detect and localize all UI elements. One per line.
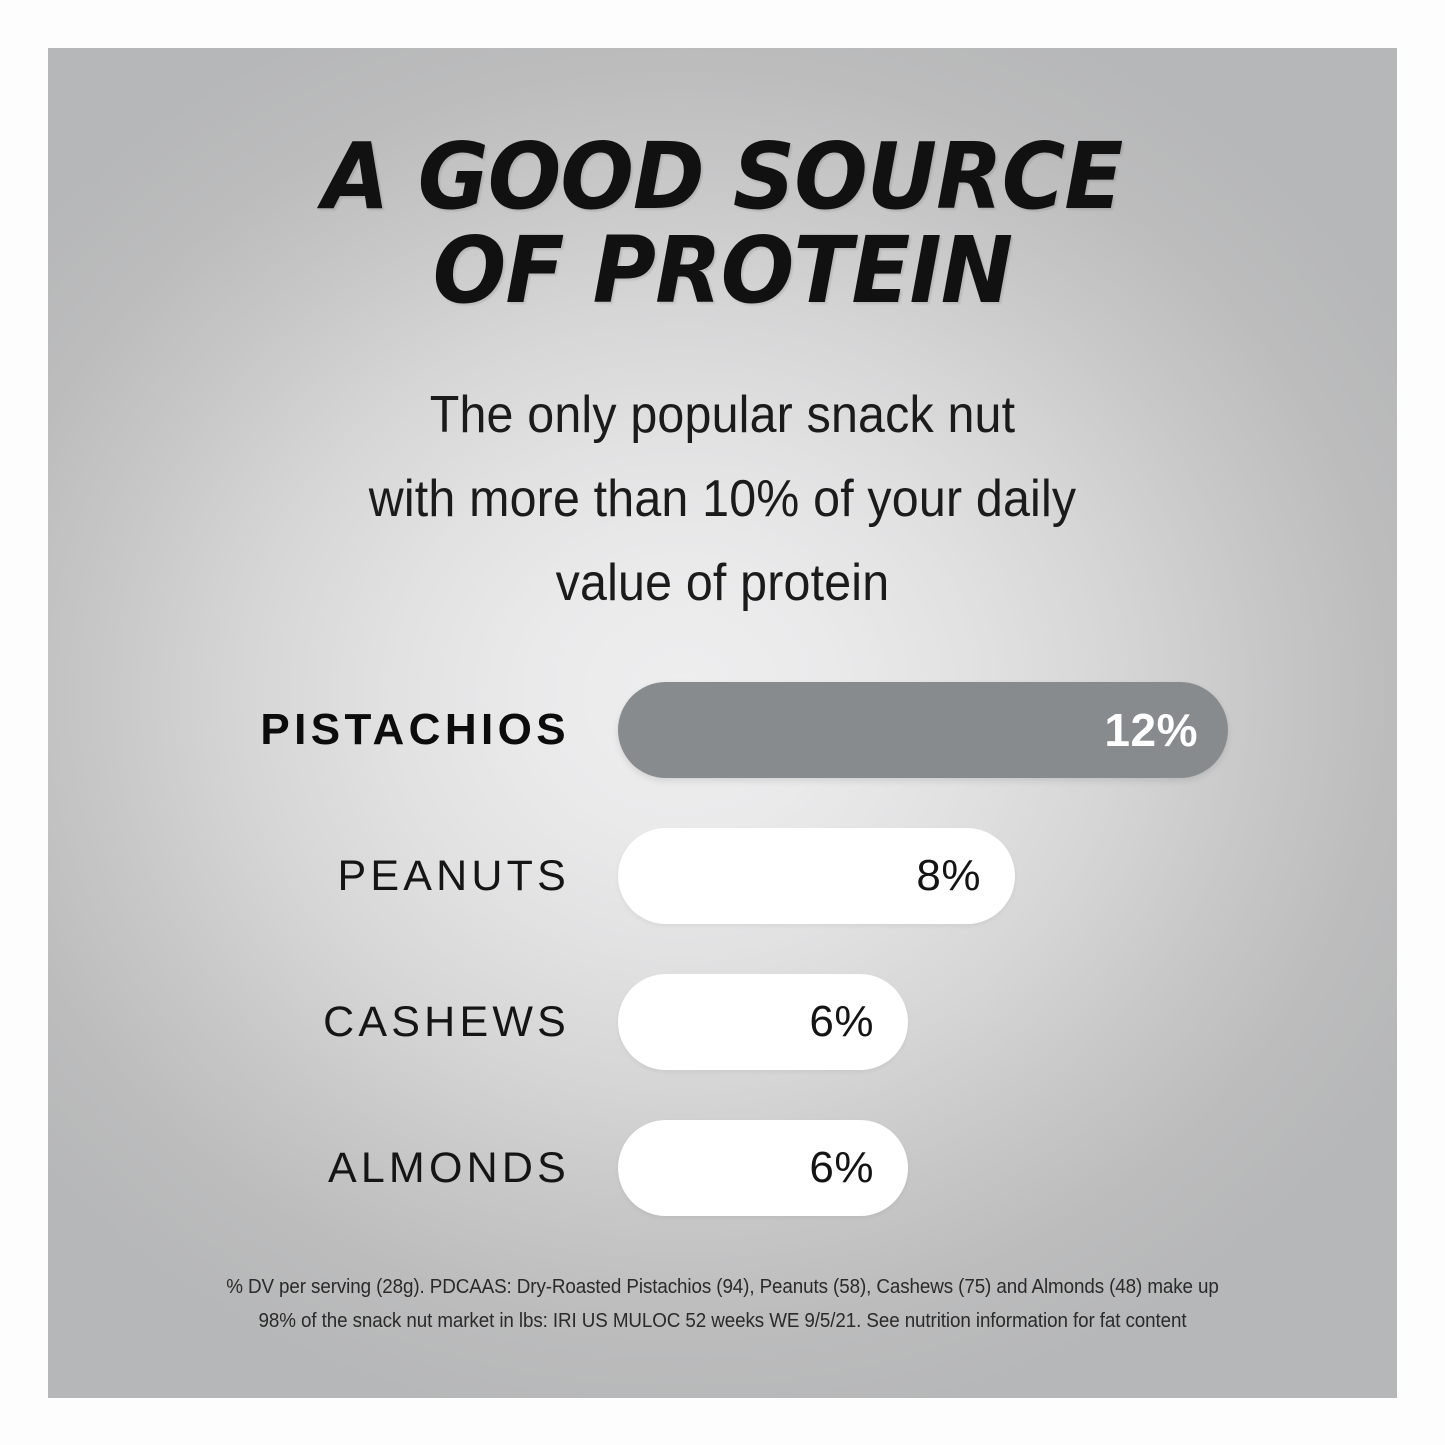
subtitle-line-1: The only popular snack nut xyxy=(95,373,1350,457)
bar-value-label: 8% xyxy=(916,851,1015,901)
bar-track: 6% xyxy=(618,1120,908,1216)
bar-label: PEANUTS xyxy=(48,828,570,924)
footnote-line-1: % DV per serving (28g). PDCAAS: Dry-Roas… xyxy=(88,1270,1356,1304)
bar-track: 8% xyxy=(618,828,1015,924)
bar-row-peanuts: PEANUTS8% xyxy=(48,828,1397,924)
infographic-panel: A GOOD SOURCE OF PROTEIN The only popula… xyxy=(48,48,1397,1398)
subtitle: The only popular snack nut with more tha… xyxy=(95,373,1350,625)
bar-row-pistachios: PISTACHIOS12% xyxy=(48,682,1397,778)
bar-value-label: 12% xyxy=(1104,703,1228,757)
bar-value-label: 6% xyxy=(809,1143,908,1193)
bar-track: 12% xyxy=(618,682,1228,778)
footnote-line-2: 98% of the snack nut market in lbs: IRI … xyxy=(88,1304,1356,1338)
headline-line-2: OF PROTEIN xyxy=(88,224,1356,318)
protein-bar-chart: PISTACHIOS12%PEANUTS8%CASHEWS6%ALMONDS6% xyxy=(48,682,1397,1242)
headline-line-1: A GOOD SOURCE xyxy=(88,130,1356,224)
subtitle-line-2: with more than 10% of your daily xyxy=(95,457,1350,541)
image-frame: A GOOD SOURCE OF PROTEIN The only popula… xyxy=(0,0,1445,1445)
bar-label: PISTACHIOS xyxy=(48,682,570,778)
bar-row-almonds: ALMONDS6% xyxy=(48,1120,1397,1216)
bar-label: ALMONDS xyxy=(48,1120,570,1216)
bar-row-cashews: CASHEWS6% xyxy=(48,974,1397,1070)
headline: A GOOD SOURCE OF PROTEIN xyxy=(88,130,1356,318)
bar-label: CASHEWS xyxy=(48,974,570,1070)
bar-track: 6% xyxy=(618,974,908,1070)
bar-value-label: 6% xyxy=(809,997,908,1047)
subtitle-line-3: value of protein xyxy=(95,541,1350,625)
footnote: % DV per serving (28g). PDCAAS: Dry-Roas… xyxy=(88,1270,1356,1338)
